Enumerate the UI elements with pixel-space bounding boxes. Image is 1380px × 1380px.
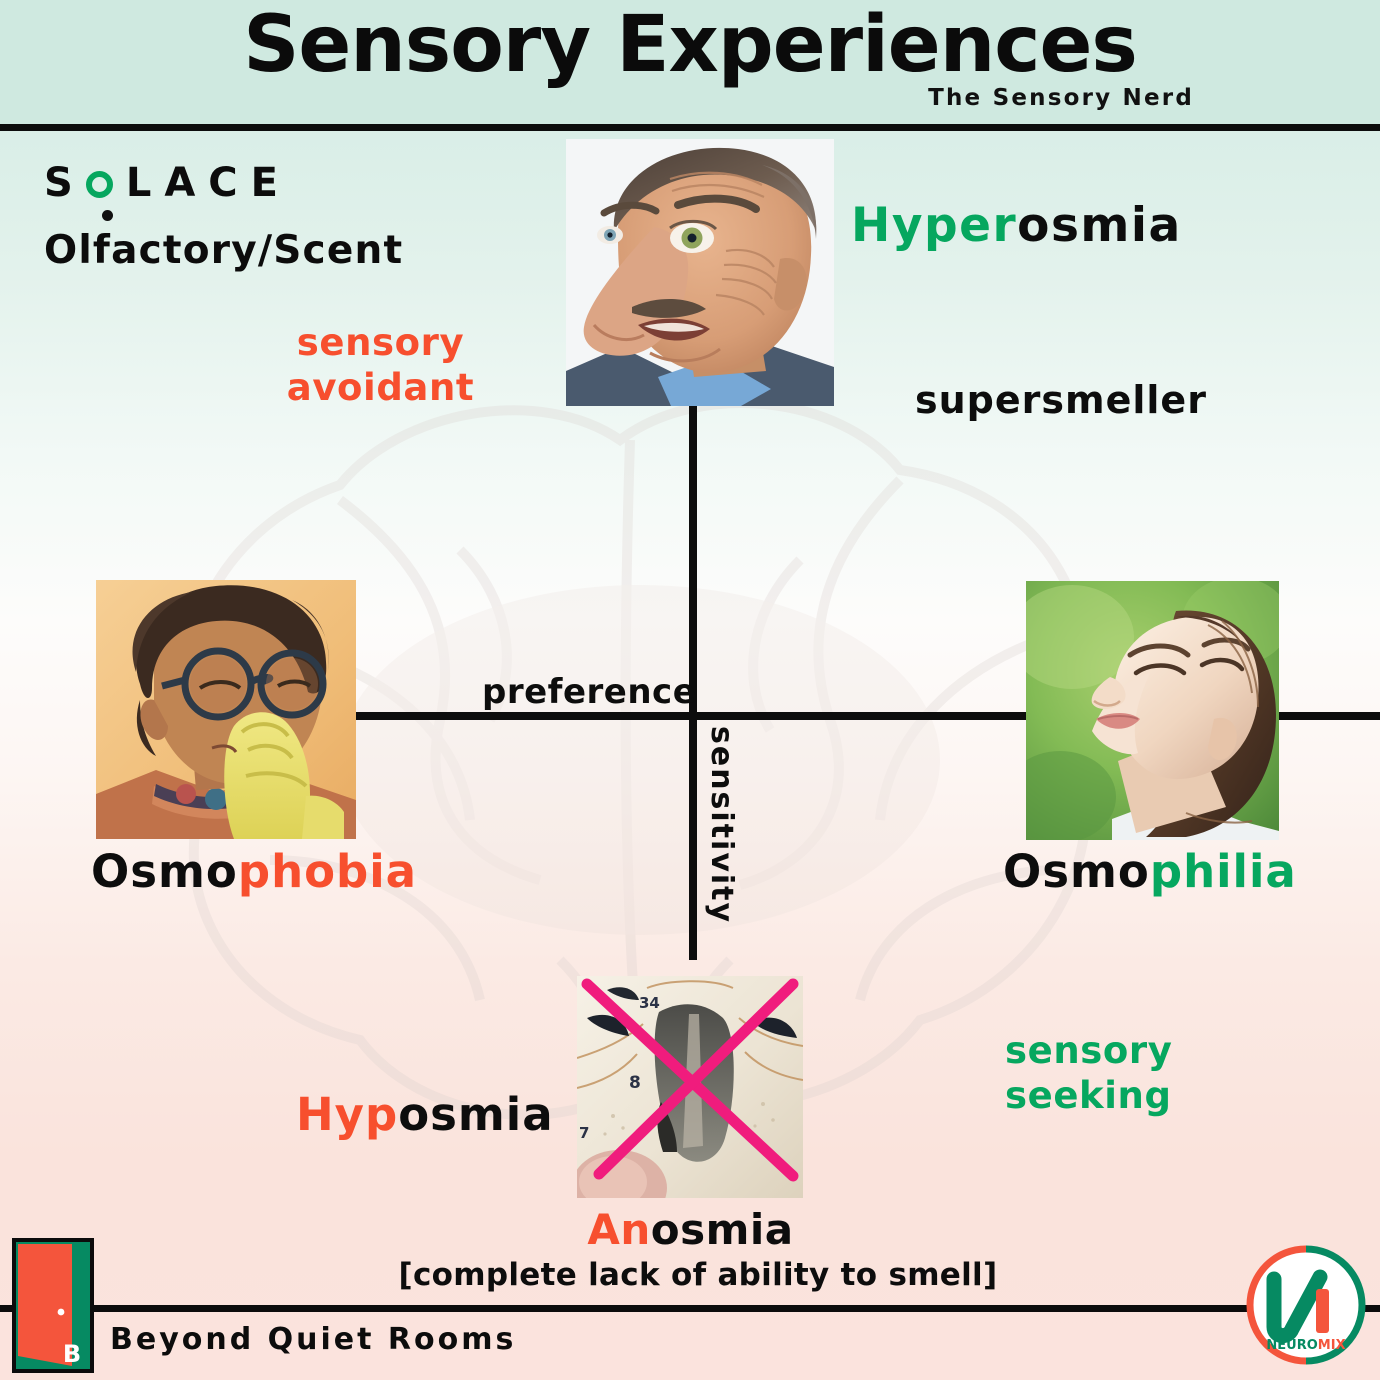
label-supersmeller: supersmeller xyxy=(915,378,1207,422)
label-osmophobia: Osmophobia xyxy=(91,845,417,898)
header-divider xyxy=(0,124,1380,131)
label-hyposmia: Hyposmia xyxy=(296,1088,554,1141)
label-anosmia: Anosmia xyxy=(573,1205,808,1254)
neuromix-logo: NEUROMIX xyxy=(1244,1243,1368,1367)
solace-letter-e: E xyxy=(251,160,291,206)
label-hyperosmia: Hyperosmia xyxy=(851,198,1182,253)
osmophobia-prefix: Osmo xyxy=(91,845,238,898)
sensory-avoidant-line1: sensory xyxy=(297,321,464,364)
label-sensory-avoidant: sensory avoidant xyxy=(278,320,483,410)
osmophilia-prefix: Osmo xyxy=(1003,845,1150,898)
page-title: Sensory Experiences xyxy=(0,6,1380,84)
hyposmia-suffix: osmia xyxy=(398,1088,553,1141)
anosmia-prefix: An xyxy=(587,1205,650,1254)
photo-woman-inhaling xyxy=(1026,581,1279,840)
neuromix-logo-secondary: MIX xyxy=(1318,1338,1346,1353)
anosmia-definition: [complete lack of ability to smell] xyxy=(398,1257,998,1293)
axis-label-sensitivity: sensitivity xyxy=(704,726,739,924)
solace-pointer-dot-icon xyxy=(102,210,113,221)
sensory-seeking-line1: sensory xyxy=(1005,1029,1172,1072)
sensory-avoidant-line2: avoidant xyxy=(287,366,474,409)
infographic-poster: Sensory Experiences The Sensory Nerd S L… xyxy=(0,0,1380,1380)
osmophilia-suffix: philia xyxy=(1150,845,1297,898)
label-sensory-seeking: sensory seeking xyxy=(1005,1028,1172,1118)
hyperosmia-prefix: Hyper xyxy=(851,198,1017,253)
axis-label-preference: preference xyxy=(482,672,696,712)
solace-letter-s: S xyxy=(44,160,86,206)
solace-letter-l: L xyxy=(126,160,165,206)
anosmia-suffix: osmia xyxy=(651,1205,794,1254)
svg-text:NEUROMIX: NEUROMIX xyxy=(1266,1338,1345,1353)
sensory-seeking-line2: seeking xyxy=(1005,1074,1172,1117)
beyond-quiet-rooms-door-icon: B xyxy=(12,1238,94,1373)
header-subtitle: The Sensory Nerd xyxy=(928,85,1194,111)
footer-divider xyxy=(0,1305,1380,1312)
svg-text:7: 7 xyxy=(579,1124,589,1142)
solace-block: S L A C E Olfactory/Scent xyxy=(44,160,474,273)
osmophobia-suffix: phobia xyxy=(238,845,417,898)
solace-acronym: S L A C E xyxy=(44,160,474,206)
hyposmia-prefix: Hyp xyxy=(296,1088,398,1141)
svg-text:8: 8 xyxy=(629,1073,641,1093)
svg-text:B: B xyxy=(63,1340,81,1368)
solace-letter-a: A xyxy=(164,160,208,206)
neuromix-logo-primary: NEURO xyxy=(1266,1338,1317,1353)
photo-man-pinching-nose xyxy=(96,580,356,839)
hyperosmia-suffix: osmia xyxy=(1017,198,1182,253)
label-osmophilia: Osmophilia xyxy=(1003,845,1297,898)
footer-brand: Beyond Quiet Rooms xyxy=(110,1322,516,1357)
header-bar: Sensory Experiences The Sensory Nerd xyxy=(0,0,1380,124)
solace-sense-label: Olfactory/Scent xyxy=(44,228,474,273)
solace-highlight-ring-icon xyxy=(86,171,113,198)
photo-man-with-large-nose xyxy=(566,139,834,406)
svg-text:34: 34 xyxy=(639,994,660,1012)
photo-skull-nasal-cavity: 8 34 7 xyxy=(577,976,803,1198)
solace-letter-c: C xyxy=(208,160,250,206)
